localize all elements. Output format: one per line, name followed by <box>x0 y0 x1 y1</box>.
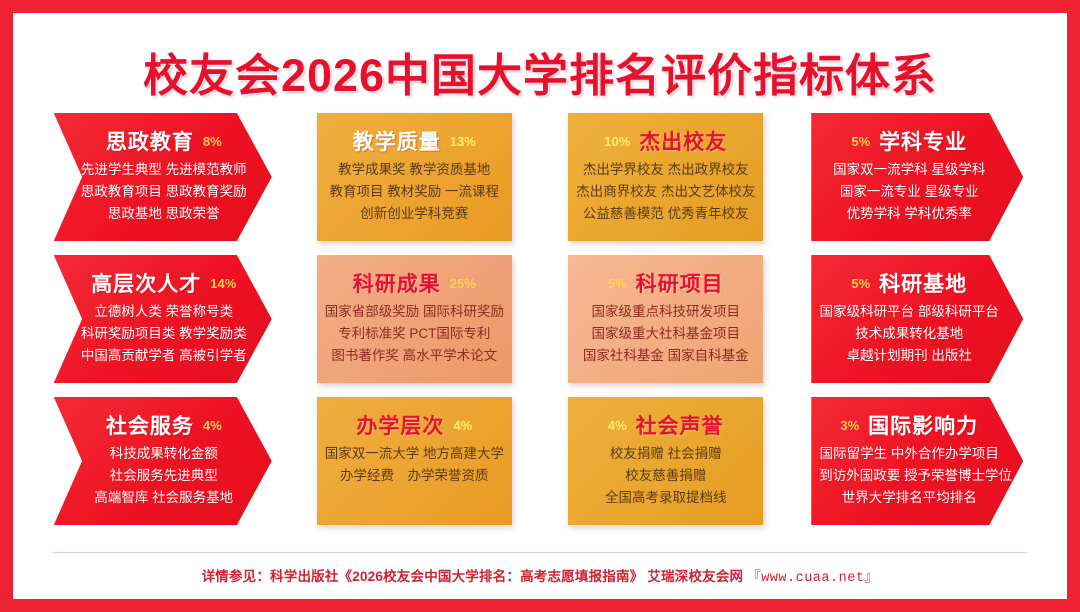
card-item: 教育项目 教材奖励 一流课程 <box>325 182 504 201</box>
grid-cell: 教学质量 13% 教学成果奖 教学资质基地 教育项目 教材奖励 一流课程 创新创… <box>289 113 541 241</box>
footer-url[interactable]: 『www.cuaa.net』 <box>747 571 878 586</box>
card-title: 社会服务 <box>106 410 194 440</box>
card-header: 5% 科研基地 <box>819 267 1015 299</box>
card-item: 到访外国政要 授予荣誉博士学位 <box>819 466 999 485</box>
card-item: 全国高考录取提档线 <box>576 488 755 507</box>
card-percent: 5% <box>851 134 870 149</box>
card-item-list: 校友捐赠 社会捐赠 校友慈善捐赠 全国高考录取提档线 <box>576 444 755 507</box>
card-item-list: 国家级重点科技研发项目 国家级重大社科基金项目 国家社科基金 国家自科基金 <box>576 302 755 365</box>
card-item: 科技成果转化金额 <box>78 444 250 463</box>
indicator-grid: 思政教育 8% 先进学生典型 先进模范教师 思政教育项目 思政教育奖励 思政基地… <box>37 113 1043 525</box>
grid-cell: 社会服务 4% 科技成果转化金额 社会服务先进典型 高端智库 社会服务基地 <box>37 397 289 525</box>
card-item: 校友慈善捐赠 <box>576 466 755 485</box>
card-header: 科研成果 25% <box>325 267 504 299</box>
card-item: 先进学生典型 先进模范教师 <box>78 160 250 179</box>
card-title: 思政教育 <box>106 126 194 156</box>
card-header: 思政教育 8% <box>62 125 264 157</box>
card-item: 国家级重点科技研发项目 <box>576 302 755 321</box>
indicator-card-gaocengci-rencai[interactable]: 高层次人才 14% 立德树人类 荣誉称号类 科研奖励项目类 教学奖励类 中国高贡… <box>54 255 272 383</box>
card-item-list: 立德树人类 荣誉称号类 科研奖励项目类 教学奖励类 中国高贡献学者 高被引学者 <box>62 302 264 365</box>
card-item: 公益慈善模范 优秀青年校友 <box>576 204 755 223</box>
card-item: 办学经费 办学荣誉资质 <box>325 466 504 485</box>
card-title: 高层次人才 <box>91 268 201 298</box>
grid-cell: 办学层次 4% 国家双一流大学 地方高建大学 办学经费 办学荣誉资质 <box>289 397 541 525</box>
grid-cell: 3% 国际影响力 国际留学生 中外合作办学项目 到访外国政要 授予荣誉博士学位 … <box>792 397 1044 525</box>
card-title: 科研成果 <box>353 268 441 298</box>
indicator-card-sizheng-jiaoyu[interactable]: 思政教育 8% 先进学生典型 先进模范教师 思政教育项目 思政教育奖励 思政基地… <box>54 113 272 241</box>
card-item: 国家双一流大学 地方高建大学 <box>325 444 504 463</box>
card-percent: 4% <box>453 418 472 433</box>
card-percent: 5% <box>608 276 627 291</box>
indicator-card-keyan-xiangmu[interactable]: 5% 科研项目 国家级重点科技研发项目 国家级重大社科基金项目 国家社科基金 国… <box>568 255 763 383</box>
grid-cell: 5% 科研基地 国家级科研平台 部级科研平台 技术成果转化基地 卓越计划期刊 出… <box>792 255 1044 383</box>
card-item: 杰出商界校友 杰出文艺体校友 <box>576 182 755 201</box>
card-item-list: 杰出学界校友 杰出政界校友 杰出商界校友 杰出文艺体校友 公益慈善模范 优秀青年… <box>576 160 755 223</box>
card-percent: 8% <box>203 134 222 149</box>
card-title: 学科专业 <box>879 126 967 156</box>
card-item: 教学成果奖 教学资质基地 <box>325 160 504 179</box>
infographic-poster: 校友会2026中国大学排名评价指标体系 思政教育 8% 先进学生典型 先进模范教… <box>0 0 1080 612</box>
card-header: 4% 社会声誉 <box>576 409 755 441</box>
card-item: 卓越计划期刊 出版社 <box>819 346 999 365</box>
card-item-list: 教学成果奖 教学资质基地 教育项目 教材奖励 一流课程 创新创业学科竞赛 <box>325 160 504 223</box>
grid-cell: 5% 科研项目 国家级重点科技研发项目 国家级重大社科基金项目 国家社科基金 国… <box>540 255 792 383</box>
card-item: 国家一流专业 星级专业 <box>819 182 999 201</box>
card-item: 国家级重大社科基金项目 <box>576 324 755 343</box>
card-header: 教学质量 13% <box>325 125 504 157</box>
card-percent: 13% <box>450 134 476 149</box>
card-title: 杰出校友 <box>639 126 727 156</box>
card-percent: 5% <box>851 276 870 291</box>
card-header: 社会服务 4% <box>62 409 264 441</box>
card-item: 思政基地 思政荣誉 <box>78 204 250 223</box>
card-title: 科研基地 <box>879 268 967 298</box>
card-item: 杰出学界校友 杰出政界校友 <box>576 160 755 179</box>
card-title: 社会声誉 <box>636 410 724 440</box>
indicator-card-jiechu-xiaoyou[interactable]: 10% 杰出校友 杰出学界校友 杰出政界校友 杰出商界校友 杰出文艺体校友 公益… <box>568 113 763 241</box>
card-percent: 3% <box>840 418 859 433</box>
footer-divider <box>53 552 1027 553</box>
card-percent: 4% <box>608 418 627 433</box>
card-percent: 10% <box>604 134 630 149</box>
card-header: 5% 学科专业 <box>819 125 1015 157</box>
card-item: 专利标准奖 PCT国际专利 <box>325 324 504 343</box>
indicator-card-xueke-zhuanye[interactable]: 5% 学科专业 国家双一流学科 星级学科 国家一流专业 星级专业 优势学科 学科… <box>811 113 1023 241</box>
card-item: 立德树人类 荣誉称号类 <box>78 302 250 321</box>
card-title: 科研项目 <box>636 268 724 298</box>
card-item: 思政教育项目 思政教育奖励 <box>78 182 250 201</box>
footer-text: 详情参见：科学出版社《2026校友会中国大学排名：高考志愿填报指南》 艾瑞深校友… <box>202 565 879 586</box>
indicator-row-1: 思政教育 8% 先进学生典型 先进模范教师 思政教育项目 思政教育奖励 思政基地… <box>37 113 1043 241</box>
card-item-list: 国家省部级奖励 国际科研奖励 专利标准奖 PCT国际专利 图书著作奖 高水平学术… <box>325 302 504 365</box>
card-item: 国家省部级奖励 国际科研奖励 <box>325 302 504 321</box>
indicator-card-shehui-fuwu[interactable]: 社会服务 4% 科技成果转化金额 社会服务先进典型 高端智库 社会服务基地 <box>54 397 272 525</box>
card-title: 办学层次 <box>356 410 444 440</box>
card-percent: 14% <box>210 276 236 291</box>
card-item: 国家双一流学科 星级学科 <box>819 160 999 179</box>
card-percent: 4% <box>203 418 222 433</box>
page-title: 校友会2026中国大学排名评价指标体系 <box>143 39 937 104</box>
card-item: 优势学科 学科优秀率 <box>819 204 999 223</box>
card-item: 社会服务先进典型 <box>78 466 250 485</box>
footer-source: 详情参见：科学出版社《2026校友会中国大学排名：高考志愿填报指南》 艾瑞深校友… <box>202 569 744 584</box>
card-item: 国家社科基金 国家自科基金 <box>576 346 755 365</box>
card-header: 10% 杰出校友 <box>576 125 755 157</box>
indicator-row-3: 社会服务 4% 科技成果转化金额 社会服务先进典型 高端智库 社会服务基地 <box>37 397 1043 525</box>
card-item-list: 国际留学生 中外合作办学项目 到访外国政要 授予荣誉博士学位 世界大学排名平均排… <box>819 444 1015 507</box>
card-item: 中国高贡献学者 高被引学者 <box>78 346 250 365</box>
card-item: 图书著作奖 高水平学术论文 <box>325 346 504 365</box>
title-container: 校友会2026中国大学排名评价指标体系 <box>13 39 1067 104</box>
card-header: 5% 科研项目 <box>576 267 755 299</box>
card-item-list: 先进学生典型 先进模范教师 思政教育项目 思政教育奖励 思政基地 思政荣誉 <box>62 160 264 223</box>
poster-inner-panel: 校友会2026中国大学排名评价指标体系 思政教育 8% 先进学生典型 先进模范教… <box>13 13 1067 599</box>
card-item: 创新创业学科竞赛 <box>325 204 504 223</box>
card-header: 高层次人才 14% <box>62 267 264 299</box>
card-title: 国际影响力 <box>868 410 978 440</box>
card-item: 世界大学排名平均排名 <box>819 488 999 507</box>
footer: 详情参见：科学出版社《2026校友会中国大学排名：高考志愿填报指南》 艾瑞深校友… <box>13 565 1067 586</box>
grid-cell: 科研成果 25% 国家省部级奖励 国际科研奖励 专利标准奖 PCT国际专利 图书… <box>289 255 541 383</box>
card-item: 校友捐赠 社会捐赠 <box>576 444 755 463</box>
card-header: 办学层次 4% <box>325 409 504 441</box>
card-item: 科研奖励项目类 教学奖励类 <box>78 324 250 343</box>
grid-cell: 高层次人才 14% 立德树人类 荣誉称号类 科研奖励项目类 教学奖励类 中国高贡… <box>37 255 289 383</box>
grid-cell: 10% 杰出校友 杰出学界校友 杰出政界校友 杰出商界校友 杰出文艺体校友 公益… <box>540 113 792 241</box>
indicator-card-jiaoxue-zhiliang[interactable]: 教学质量 13% 教学成果奖 教学资质基地 教育项目 教材奖励 一流课程 创新创… <box>317 113 512 241</box>
card-item: 国家级科研平台 部级科研平台 <box>819 302 999 321</box>
indicator-card-shehui-shengyu[interactable]: 4% 社会声誉 校友捐赠 社会捐赠 校友慈善捐赠 全国高考录取提档线 <box>568 397 763 525</box>
card-item-list: 科技成果转化金额 社会服务先进典型 高端智库 社会服务基地 <box>62 444 264 507</box>
indicator-row-2: 高层次人才 14% 立德树人类 荣誉称号类 科研奖励项目类 教学奖励类 中国高贡… <box>37 255 1043 383</box>
card-percent: 25% <box>450 276 476 291</box>
indicator-card-keyan-jidi[interactable]: 5% 科研基地 国家级科研平台 部级科研平台 技术成果转化基地 卓越计划期刊 出… <box>811 255 1023 383</box>
grid-cell: 思政教育 8% 先进学生典型 先进模范教师 思政教育项目 思政教育奖励 思政基地… <box>37 113 289 241</box>
indicator-card-banxue-cengci[interactable]: 办学层次 4% 国家双一流大学 地方高建大学 办学经费 办学荣誉资质 <box>317 397 512 525</box>
card-title: 教学质量 <box>353 126 441 156</box>
grid-cell: 4% 社会声誉 校友捐赠 社会捐赠 校友慈善捐赠 全国高考录取提档线 <box>540 397 792 525</box>
indicator-card-keyan-chengguo[interactable]: 科研成果 25% 国家省部级奖励 国际科研奖励 专利标准奖 PCT国际专利 图书… <box>317 255 512 383</box>
card-item-list: 国家双一流大学 地方高建大学 办学经费 办学荣誉资质 <box>325 444 504 485</box>
indicator-card-guoji-yingxiangli[interactable]: 3% 国际影响力 国际留学生 中外合作办学项目 到访外国政要 授予荣誉博士学位 … <box>811 397 1023 525</box>
card-header: 3% 国际影响力 <box>819 409 1015 441</box>
card-item-list: 国家级科研平台 部级科研平台 技术成果转化基地 卓越计划期刊 出版社 <box>819 302 1015 365</box>
card-item: 高端智库 社会服务基地 <box>78 488 250 507</box>
card-item: 技术成果转化基地 <box>819 324 999 343</box>
card-item-list: 国家双一流学科 星级学科 国家一流专业 星级专业 优势学科 学科优秀率 <box>819 160 1015 223</box>
card-item: 国际留学生 中外合作办学项目 <box>819 444 999 463</box>
grid-cell: 5% 学科专业 国家双一流学科 星级学科 国家一流专业 星级专业 优势学科 学科… <box>792 113 1044 241</box>
